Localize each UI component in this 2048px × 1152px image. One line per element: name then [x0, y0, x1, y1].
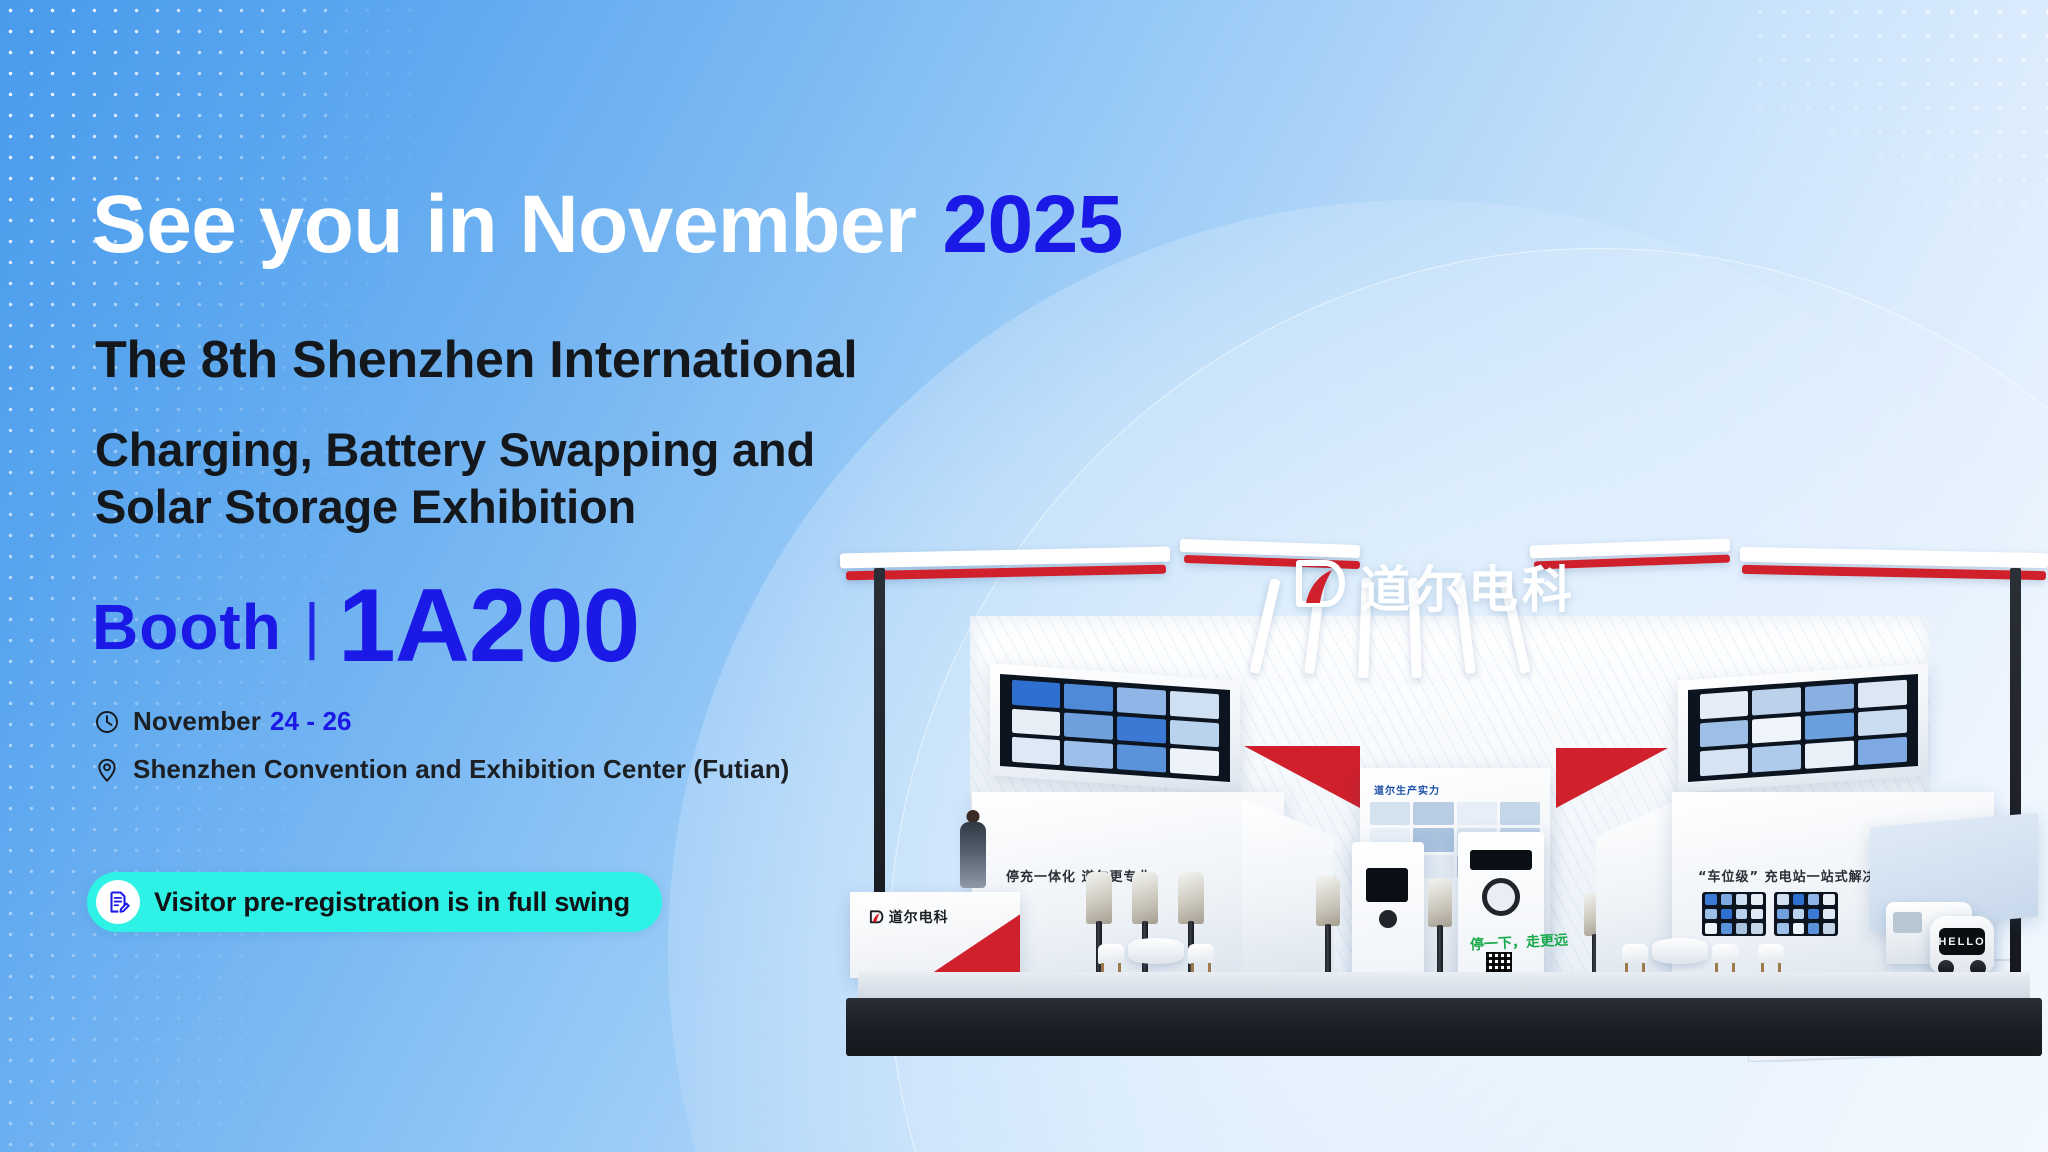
- booth-number: 1A200: [338, 580, 639, 674]
- booth-brand-logo: 道尔电科: [1292, 550, 1576, 622]
- subtitle-line-3: Solar Storage Exhibition: [95, 478, 815, 535]
- center-panel-title: 道尔生产实力: [1374, 782, 1440, 797]
- charging-pillar: [1132, 872, 1158, 984]
- chair-seat: [1622, 944, 1648, 964]
- screen-tiles: [1700, 679, 1907, 776]
- right-display-header: [1678, 663, 1928, 792]
- charging-kiosk-center: 停一下，走更远: [1458, 832, 1544, 984]
- booth-label: Booth: [92, 590, 282, 664]
- screen-tiles: [1012, 679, 1219, 776]
- lounge-table: [1652, 938, 1708, 964]
- desk-logo-text: 道尔电科: [889, 907, 949, 927]
- delivery-robot: HELLO: [1930, 916, 1994, 972]
- screen-tiles: [1777, 894, 1835, 934]
- location-pin-icon: [94, 757, 120, 783]
- booth-separator: |: [304, 591, 320, 662]
- pillar-head: [1132, 872, 1158, 924]
- charging-pillar: [1316, 876, 1340, 984]
- booth-brand-name: 道尔电科: [1360, 550, 1576, 622]
- kiosk-connector-ring: [1482, 878, 1520, 916]
- event-meta: November 24 - 26 Shenzhen Convention and…: [94, 706, 789, 802]
- pillar-head: [1086, 872, 1112, 924]
- left-display-header: [990, 663, 1240, 792]
- chair-seat: [1758, 944, 1784, 964]
- subtitle-line-1: The 8th Shenzhen International: [95, 330, 857, 390]
- lounge-table: [1128, 938, 1184, 964]
- staff-person: [958, 810, 988, 896]
- left-sign-text: 停充一体化 道尔更专业: [1006, 866, 1152, 885]
- person-body: [960, 822, 986, 888]
- daoer-d-mark-icon: [869, 910, 884, 925]
- event-month: November: [133, 706, 261, 737]
- monitor: [1702, 892, 1766, 936]
- form-edit-icon: [96, 880, 140, 924]
- chair-seat: [1098, 944, 1124, 964]
- promo-banner: See you in November2025 The 8th Shenzhen…: [0, 0, 2048, 1152]
- chair-seat: [1712, 944, 1738, 964]
- event-days: 24 - 26: [270, 706, 352, 737]
- headline: See you in November2025: [92, 178, 1123, 272]
- headline-year: 2025: [942, 179, 1122, 270]
- reception-desk: 道尔电科: [850, 892, 1020, 978]
- pillar-head: [1178, 872, 1204, 924]
- daoer-d-mark-icon: [1292, 558, 1348, 614]
- pillar-head: [1316, 876, 1340, 926]
- event-venue-row: Shenzhen Convention and Exhibition Cente…: [94, 754, 789, 785]
- screen-tiles: [1705, 894, 1763, 934]
- robot-display: HELLO: [1939, 928, 1985, 955]
- headline-main: See you in November: [92, 179, 916, 270]
- subtitle-block: Charging, Battery Swapping and Solar Sto…: [95, 421, 815, 535]
- clock-icon: [94, 709, 120, 735]
- ceiling-slat: [1249, 578, 1280, 674]
- pillar-head: [1428, 878, 1452, 927]
- van-window: [1893, 912, 1922, 933]
- pre-registration-cta[interactable]: Visitor pre-registration is in full swin…: [87, 872, 662, 932]
- monitor: [1774, 892, 1838, 936]
- charging-kiosk-left: [1352, 842, 1424, 982]
- subtitle-line-2: Charging, Battery Swapping and: [95, 421, 815, 478]
- chair-seat: [1188, 944, 1214, 964]
- truss-leg: [2010, 568, 2021, 988]
- event-date-row: November 24 - 26: [94, 706, 789, 737]
- desk-logo: 道尔电科: [869, 907, 949, 927]
- left-header-screen: [1000, 674, 1230, 782]
- exhibition-booth-render: 道尔电科 停充一体化 道尔更专业 道尔生产实力: [840, 520, 2048, 1120]
- robot-display-text: HELLO: [1938, 936, 1985, 948]
- event-venue: Shenzhen Convention and Exhibition Cente…: [133, 754, 789, 785]
- halftone-dots-topright: [1748, 0, 2048, 260]
- right-header-screen: [1688, 674, 1918, 782]
- booth-floor: [846, 998, 2042, 1056]
- kiosk-connector: [1379, 910, 1397, 928]
- kiosk-screen: [1366, 868, 1408, 902]
- kiosk-banner-screen: [1470, 850, 1532, 870]
- charging-pillar: [1428, 878, 1452, 984]
- pre-registration-label: Visitor pre-registration is in full swin…: [154, 887, 630, 918]
- booth-info: Booth | 1A200: [92, 580, 639, 674]
